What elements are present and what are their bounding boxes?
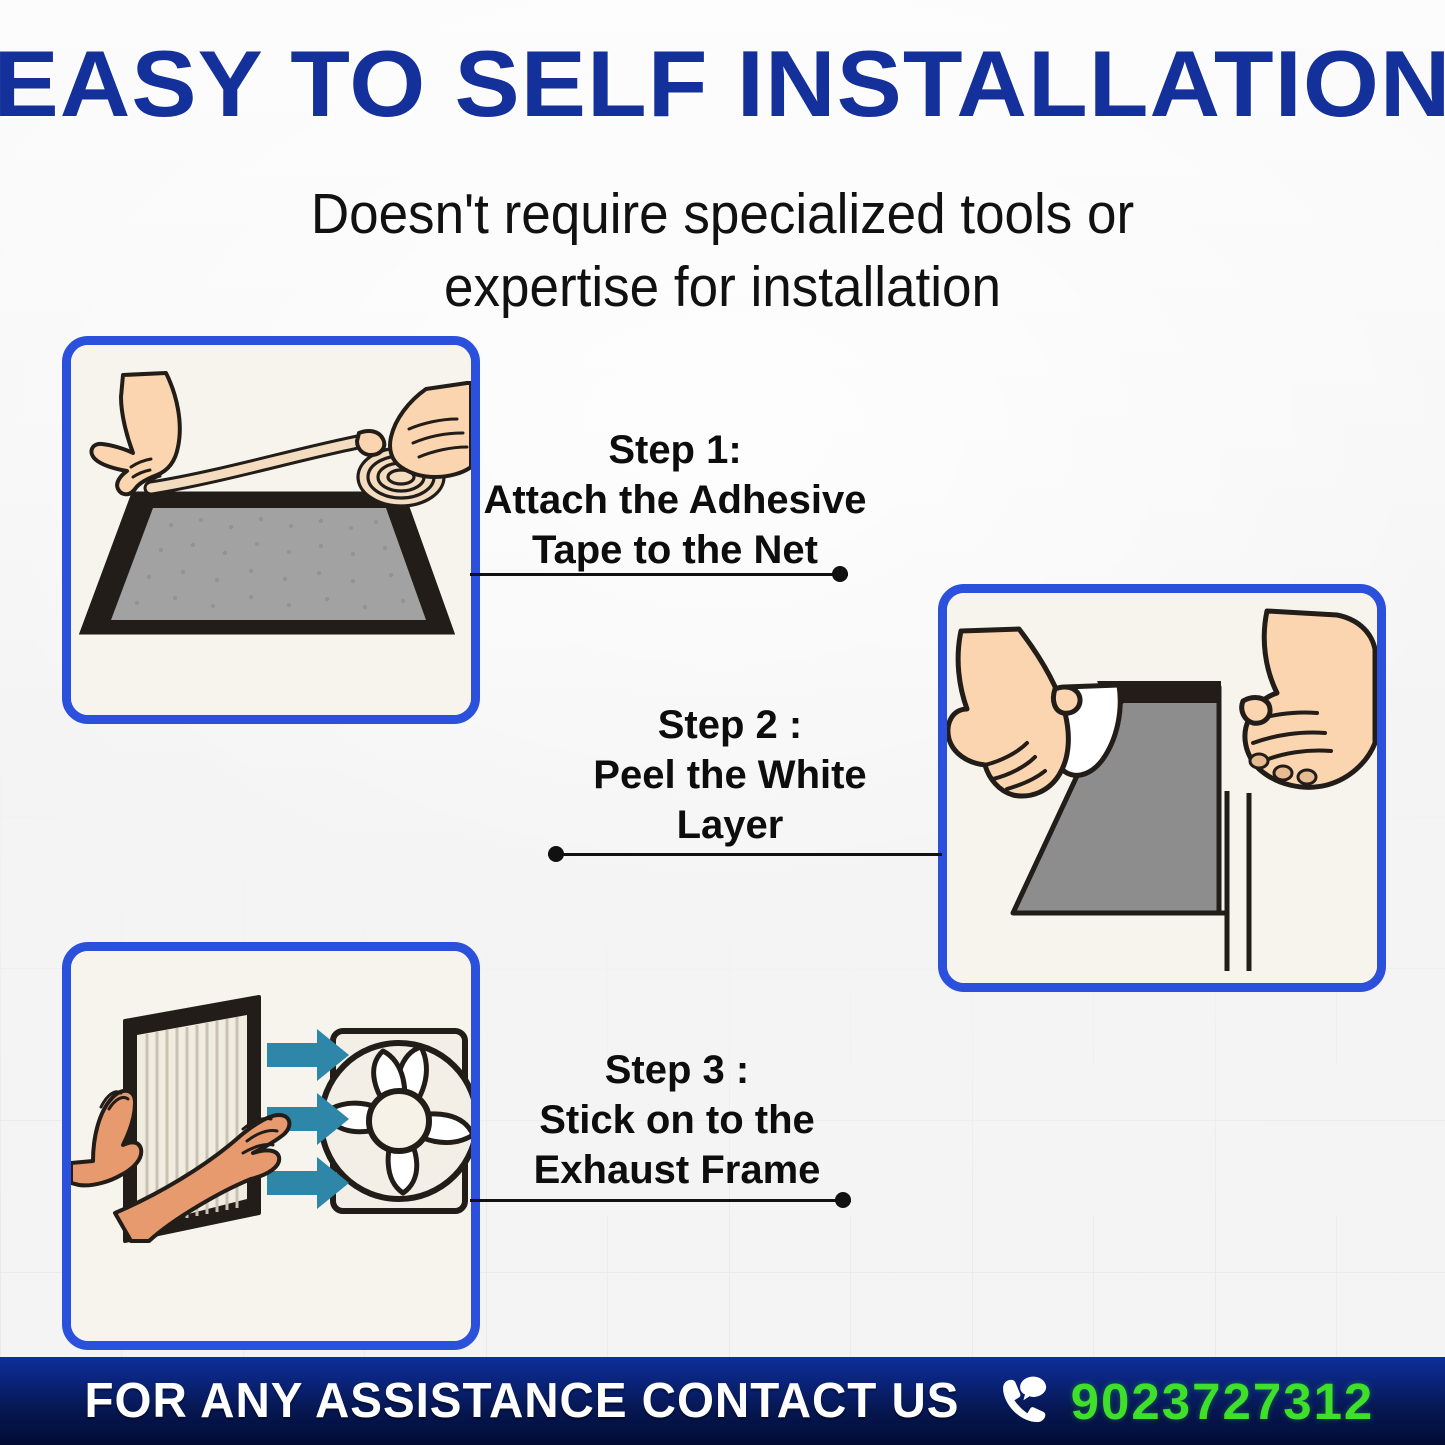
step-2-illustration-panel <box>938 584 1386 992</box>
connector-dot <box>835 1192 851 1208</box>
step-3-line-1: Stick on to the <box>472 1095 882 1145</box>
peel-white-layer-illustration <box>947 593 1377 983</box>
step-1-text-block: Step 1: Attach the Adhesive Tape to the … <box>470 425 880 575</box>
connector-dot <box>548 846 564 862</box>
step-3-text-block: Step 3 : Stick on to the Exhaust Frame <box>472 1045 882 1195</box>
step-1-line-1: Attach the Adhesive <box>470 475 880 525</box>
step-1-heading: Step 1: <box>470 425 880 475</box>
subtitle-line-1: Doesn't require specialized tools or <box>209 178 1237 251</box>
connector-rail <box>470 1199 851 1202</box>
infographic-poster: EASY TO SELF INSTALLATION Doesn't requir… <box>0 0 1445 1445</box>
connector-rail <box>548 853 942 856</box>
step-3-heading: Step 3 : <box>472 1045 882 1095</box>
step-1-illustration-panel <box>62 336 480 724</box>
step-3-line-2: Exhaust Frame <box>472 1145 882 1195</box>
contact-phone-number: 9023727312 <box>1071 1372 1375 1431</box>
connector-dot <box>832 566 848 582</box>
contact-footer-bar: FOR ANY ASSISTANCE CONTACT US 9023727312 <box>0 1357 1445 1445</box>
page-subtitle: Doesn't require specialized tools or exp… <box>209 178 1237 324</box>
connector-rail <box>470 573 848 576</box>
step-2-heading: Step 2 : <box>525 700 935 750</box>
step-2-text-block: Step 2 : Peel the White Layer <box>525 700 935 850</box>
stick-on-exhaust-frame-illustration <box>71 951 471 1341</box>
tape-on-net-illustration <box>71 345 471 715</box>
step-1-connector-line <box>470 566 848 582</box>
page-title: EASY TO SELF INSTALLATION <box>0 34 1445 134</box>
subtitle-line-2: expertise for installation <box>209 251 1237 324</box>
step-2-line-1: Peel the White <box>525 750 935 800</box>
step-2-connector-line <box>548 846 942 862</box>
assistance-label: FOR ANY ASSISTANCE CONTACT US <box>84 1373 959 1429</box>
phone-call-icon <box>999 1375 1051 1427</box>
step-3-illustration-panel <box>62 942 480 1350</box>
step-2-line-2: Layer <box>525 800 935 850</box>
step-3-connector-line <box>470 1192 851 1208</box>
